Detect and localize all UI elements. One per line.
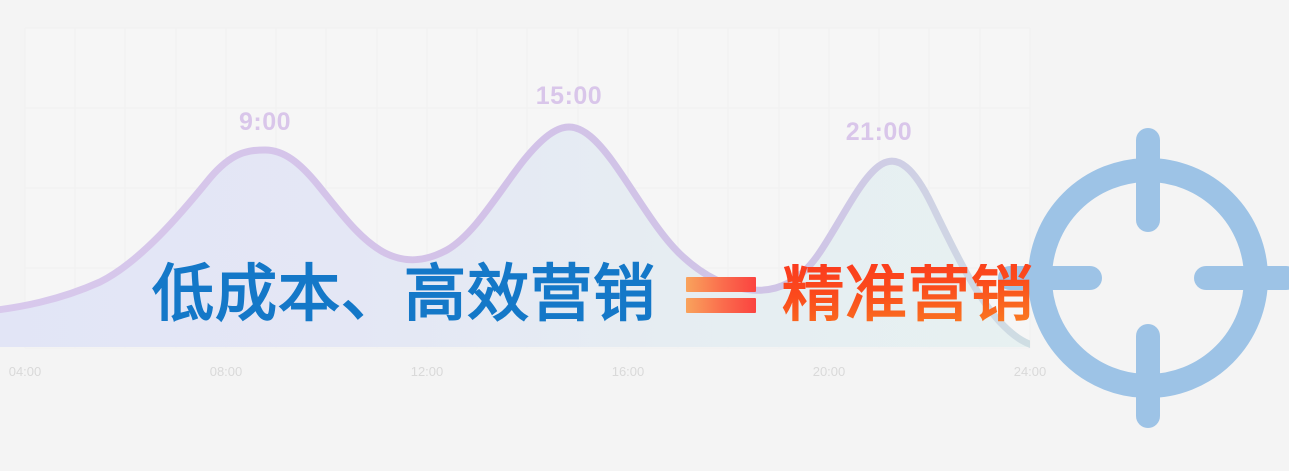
headline-blue-text: 低成本、高效营销 (152, 264, 656, 326)
peak-label-21-00: 21:00 (846, 118, 912, 147)
axis-tick-16-00: 16:00 (612, 364, 645, 379)
equals-sign-icon (686, 277, 756, 313)
headline: 低成本、高效营销 精准营销 (0, 245, 1289, 345)
peak-label-9-00: 9:00 (239, 108, 291, 137)
axis-tick-20-00: 20:00 (813, 364, 846, 379)
axis-tick-08-00: 08:00 (210, 364, 243, 379)
equals-bar-bottom (686, 298, 756, 313)
axis-tick-12-00: 12:00 (411, 364, 444, 379)
headline-orange-text: 精准营销 (782, 264, 1034, 326)
peak-label-15-00: 15:00 (536, 82, 602, 111)
equals-bar-top (686, 277, 756, 292)
axis-tick-04-00: 04:00 (9, 364, 42, 379)
marketing-banner: 9:00 15:00 21:00 04:00 08:00 12:00 16:00… (0, 0, 1289, 471)
